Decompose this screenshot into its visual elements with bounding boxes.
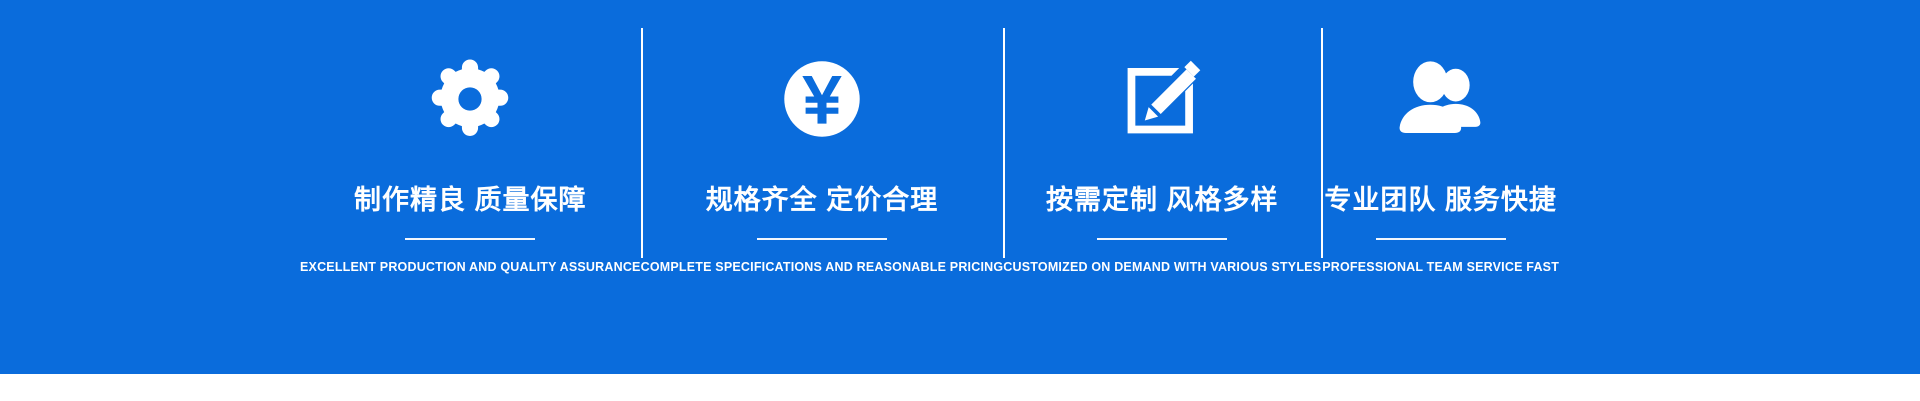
gear-icon bbox=[425, 54, 515, 144]
feature-divider-rule bbox=[405, 238, 535, 240]
feature-subtitle: COMPLETE SPECIFICATIONS AND REASONABLE P… bbox=[641, 260, 1004, 274]
feature-subtitle: EXCELLENT PRODUCTION AND QUALITY ASSURAN… bbox=[300, 260, 641, 274]
feature-divider-rule bbox=[1376, 238, 1506, 240]
feature-title: 按需定制 风格多样 bbox=[1046, 186, 1279, 216]
feature-list: 制作精良 质量保障 EXCELLENT PRODUCTION AND QUALI… bbox=[300, 0, 1560, 374]
feature-subtitle: PROFESSIONAL TEAM SERVICE FAST bbox=[1322, 260, 1559, 274]
feature-item-production-quality[interactable]: 制作精良 质量保障 EXCELLENT PRODUCTION AND QUALI… bbox=[300, 0, 641, 374]
edit-square-pencil-icon bbox=[1117, 54, 1207, 144]
feature-divider-rule bbox=[1097, 238, 1227, 240]
feature-title: 专业团队 服务快捷 bbox=[1324, 186, 1557, 216]
feature-item-team-service[interactable]: 专业团队 服务快捷 PROFESSIONAL TEAM SERVICE FAST bbox=[1321, 0, 1560, 374]
blue-banner: 制作精良 质量保障 EXCELLENT PRODUCTION AND QUALI… bbox=[0, 0, 1920, 374]
feature-divider-rule bbox=[757, 238, 887, 240]
feature-item-customization[interactable]: 按需定制 风格多样 CUSTOMIZED ON DEMAND WITH VARI… bbox=[1003, 0, 1321, 374]
users-group-icon bbox=[1396, 54, 1486, 144]
feature-title: 制作精良 质量保障 bbox=[354, 186, 587, 216]
feature-subtitle: CUSTOMIZED ON DEMAND WITH VARIOUS STYLES bbox=[1003, 260, 1321, 274]
yen-circle-icon bbox=[777, 54, 867, 144]
feature-title: 规格齐全 定价合理 bbox=[706, 186, 939, 216]
feature-banner-screen: 制作精良 质量保障 EXCELLENT PRODUCTION AND QUALI… bbox=[0, 0, 1920, 401]
feature-item-specs-pricing[interactable]: 规格齐全 定价合理 COMPLETE SPECIFICATIONS AND RE… bbox=[641, 0, 1004, 374]
